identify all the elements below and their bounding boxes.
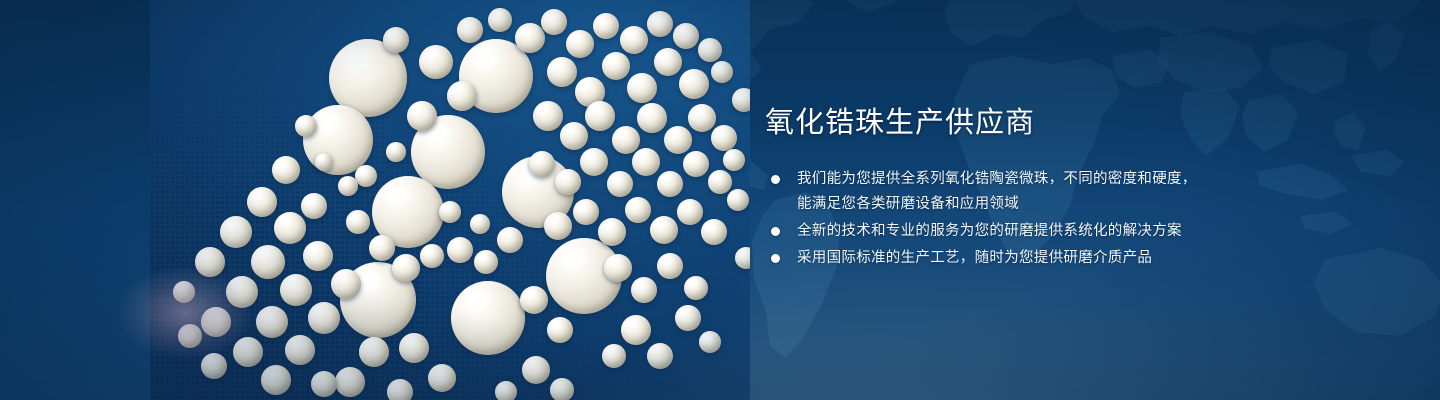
bullet-line-1: 采用国际标准的生产工艺，随时为您提供研磨介质产品 xyxy=(797,250,1152,266)
bullet-line-1: 我们能为您提供全系列氧化锆陶瓷微珠，不同的密度和硬度， xyxy=(797,171,1197,187)
bullet-line-2: 能满足您各类研磨设备和应用领域 xyxy=(797,192,1225,217)
page-title: 氧化锆珠生产供应商 xyxy=(765,106,1225,141)
feature-list: 我们能为您提供全系列氧化锆陶瓷微珠，不同的密度和硬度， 能满足您各类研磨设备和应… xyxy=(765,167,1225,271)
promo-banner: 氧化锆珠生产供应商 我们能为您提供全系列氧化锆陶瓷微珠，不同的密度和硬度， 能满… xyxy=(0,0,1440,400)
dot-bullet-icon xyxy=(771,227,780,236)
banner-content: 氧化锆珠生产供应商 我们能为您提供全系列氧化锆陶瓷微珠，不同的密度和硬度， 能满… xyxy=(765,106,1225,273)
list-item: 全新的技术和专业的服务为您的研磨提供系统化的解决方案 xyxy=(765,219,1225,244)
bullet-line-1: 全新的技术和专业的服务为您的研磨提供系统化的解决方案 xyxy=(797,223,1182,239)
dot-bullet-icon xyxy=(771,175,780,184)
list-item: 我们能为您提供全系列氧化锆陶瓷微珠，不同的密度和硬度， 能满足您各类研磨设备和应… xyxy=(765,167,1225,217)
list-item: 采用国际标准的生产工艺，随时为您提供研磨介质产品 xyxy=(765,246,1225,271)
dot-bullet-icon xyxy=(771,254,780,263)
